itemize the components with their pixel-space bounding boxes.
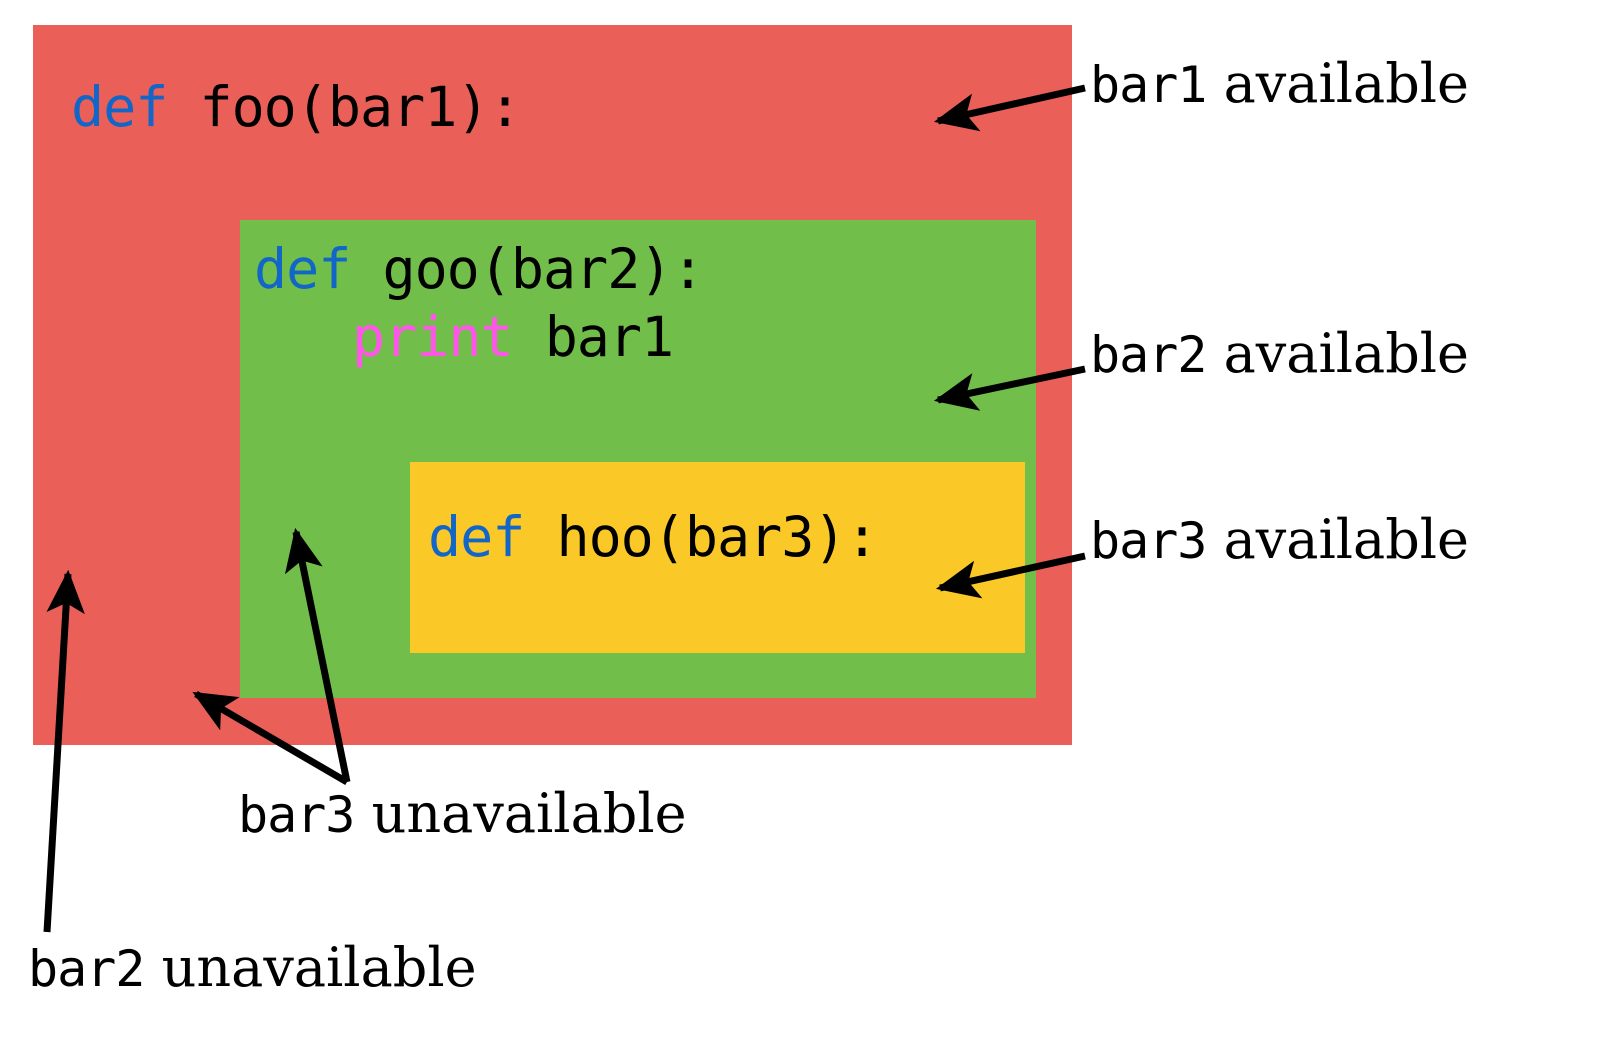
- annotation-var-bar2: bar2: [1090, 326, 1206, 384]
- annotation-state-available-3: available: [1206, 508, 1469, 571]
- signature-hoo: hoo(bar3):: [524, 505, 877, 569]
- annotation-var-bar3: bar3: [1090, 512, 1206, 570]
- code-line-def-foo: def foo(bar1):: [71, 80, 521, 135]
- signature-goo: goo(bar2):: [350, 237, 703, 301]
- keyword-def-hoo: def: [428, 505, 524, 569]
- annotation-var-bar3-un: bar3: [238, 786, 354, 844]
- annotation-bar2-available: bar2 available: [1090, 327, 1469, 381]
- annotation-var-bar2-un: bar2: [28, 940, 144, 998]
- print-argument-bar1: bar1: [513, 305, 674, 369]
- annotation-bar3-available: bar3 available: [1090, 513, 1469, 567]
- annotation-state-available-2: available: [1206, 322, 1469, 385]
- scope-box-hoo: def hoo(bar3):: [410, 462, 1025, 653]
- scope-box-goo: def goo(bar2): print bar1 def hoo(bar3):: [240, 220, 1036, 698]
- code-line-print-bar1: print bar1: [352, 310, 673, 365]
- scope-box-foo: def foo(bar1): def goo(bar2): print bar1…: [33, 25, 1072, 745]
- annotation-var-bar1: bar1: [1090, 56, 1206, 114]
- annotation-state-unavailable-2: unavailable: [144, 936, 476, 999]
- code-line-def-goo: def goo(bar2):: [254, 242, 704, 297]
- keyword-def-foo: def: [71, 75, 167, 139]
- keyword-print: print: [352, 305, 513, 369]
- annotation-bar3-unavailable: bar3 unavailable: [238, 787, 687, 841]
- scope-diagram-canvas: def foo(bar1): def goo(bar2): print bar1…: [0, 0, 1602, 1060]
- annotation-state-unavailable-3: unavailable: [354, 782, 686, 845]
- signature-foo: foo(bar1):: [167, 75, 520, 139]
- code-line-def-hoo: def hoo(bar3):: [428, 510, 878, 565]
- annotation-bar1-available: bar1 available: [1090, 57, 1469, 111]
- annotation-bar2-unavailable: bar2 unavailable: [28, 941, 477, 995]
- annotation-state-available-1: available: [1206, 52, 1469, 115]
- keyword-def-goo: def: [254, 237, 350, 301]
